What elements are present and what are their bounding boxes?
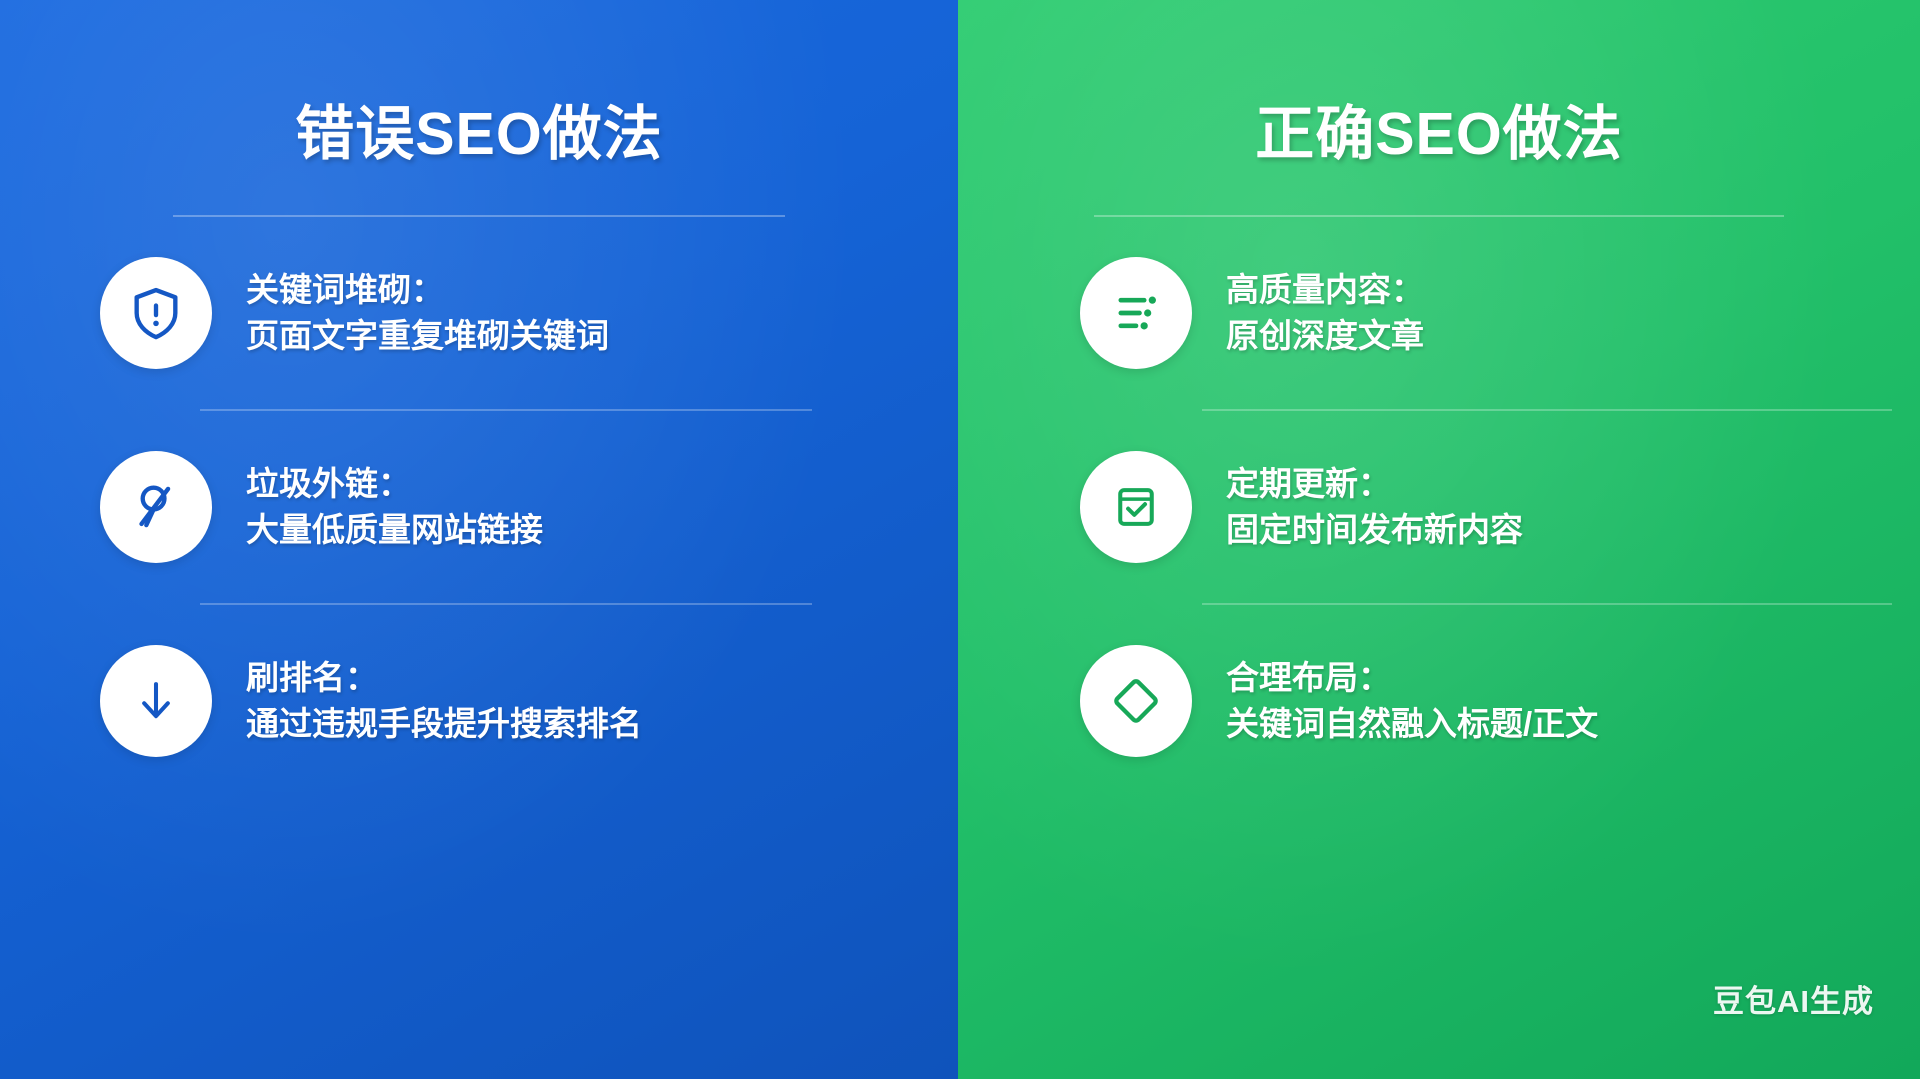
list-item-texts: 垃圾外链： 大量低质量网站链接	[246, 461, 543, 552]
list-item-texts: 高质量内容： 原创深度文章	[1226, 267, 1424, 358]
bullet-list-icon	[1080, 257, 1192, 369]
right-items-list: 高质量内容： 原创深度文章 定期更新：	[958, 217, 1920, 797]
left-panel-wrong-seo: 错误SEO做法 关键词堆砌： 页面文字重复堆砌关键词	[0, 0, 958, 1079]
list-item[interactable]: 定期更新： 固定时间发布新内容	[1080, 411, 1920, 603]
calendar-check-icon	[1080, 451, 1192, 563]
shield-alert-icon	[100, 257, 212, 369]
list-item-description: 关键词自然融入标题/正文	[1226, 701, 1598, 747]
left-items-list: 关键词堆砌： 页面文字重复堆砌关键词 垃圾外链：	[0, 217, 958, 797]
list-item[interactable]: 合理布局： 关键词自然融入标题/正文	[1080, 605, 1920, 797]
list-item[interactable]: 刷排名： 通过违规手段提升搜索排名	[100, 605, 958, 797]
list-item[interactable]: 垃圾外链： 大量低质量网站链接	[100, 411, 958, 603]
right-panel-correct-seo: 正确SEO做法 高质量内容：	[958, 0, 1920, 1079]
list-item-heading: 合理布局：	[1226, 655, 1598, 701]
list-item-heading: 关键词堆砌：	[246, 267, 609, 313]
list-item-heading: 高质量内容：	[1226, 267, 1424, 313]
list-item-heading: 垃圾外链：	[246, 461, 543, 507]
broken-link-icon	[100, 451, 212, 563]
diamond-icon	[1080, 645, 1192, 757]
list-item-description: 固定时间发布新内容	[1226, 507, 1523, 553]
list-item-description: 大量低质量网站链接	[246, 507, 543, 553]
list-item-heading: 刷排名：	[246, 655, 642, 701]
list-item-description: 通过违规手段提升搜索排名	[246, 701, 642, 747]
list-item-texts: 定期更新： 固定时间发布新内容	[1226, 461, 1523, 552]
comparison-infographic: 错误SEO做法 关键词堆砌： 页面文字重复堆砌关键词	[0, 0, 1920, 1079]
arrow-down-icon	[100, 645, 212, 757]
list-item-description: 页面文字重复堆砌关键词	[246, 313, 609, 359]
right-panel-title: 正确SEO做法	[958, 0, 1920, 171]
list-item-texts: 刷排名： 通过违规手段提升搜索排名	[246, 655, 642, 746]
list-item[interactable]: 关键词堆砌： 页面文字重复堆砌关键词	[100, 217, 958, 409]
list-item-texts: 关键词堆砌： 页面文字重复堆砌关键词	[246, 267, 609, 358]
list-item-description: 原创深度文章	[1226, 313, 1424, 359]
list-item[interactable]: 高质量内容： 原创深度文章	[1080, 217, 1920, 409]
watermark-label: 豆包AI生成	[1713, 976, 1874, 1021]
list-item-texts: 合理布局： 关键词自然融入标题/正文	[1226, 655, 1598, 746]
list-item-heading: 定期更新：	[1226, 461, 1523, 507]
left-panel-title: 错误SEO做法	[0, 0, 958, 171]
